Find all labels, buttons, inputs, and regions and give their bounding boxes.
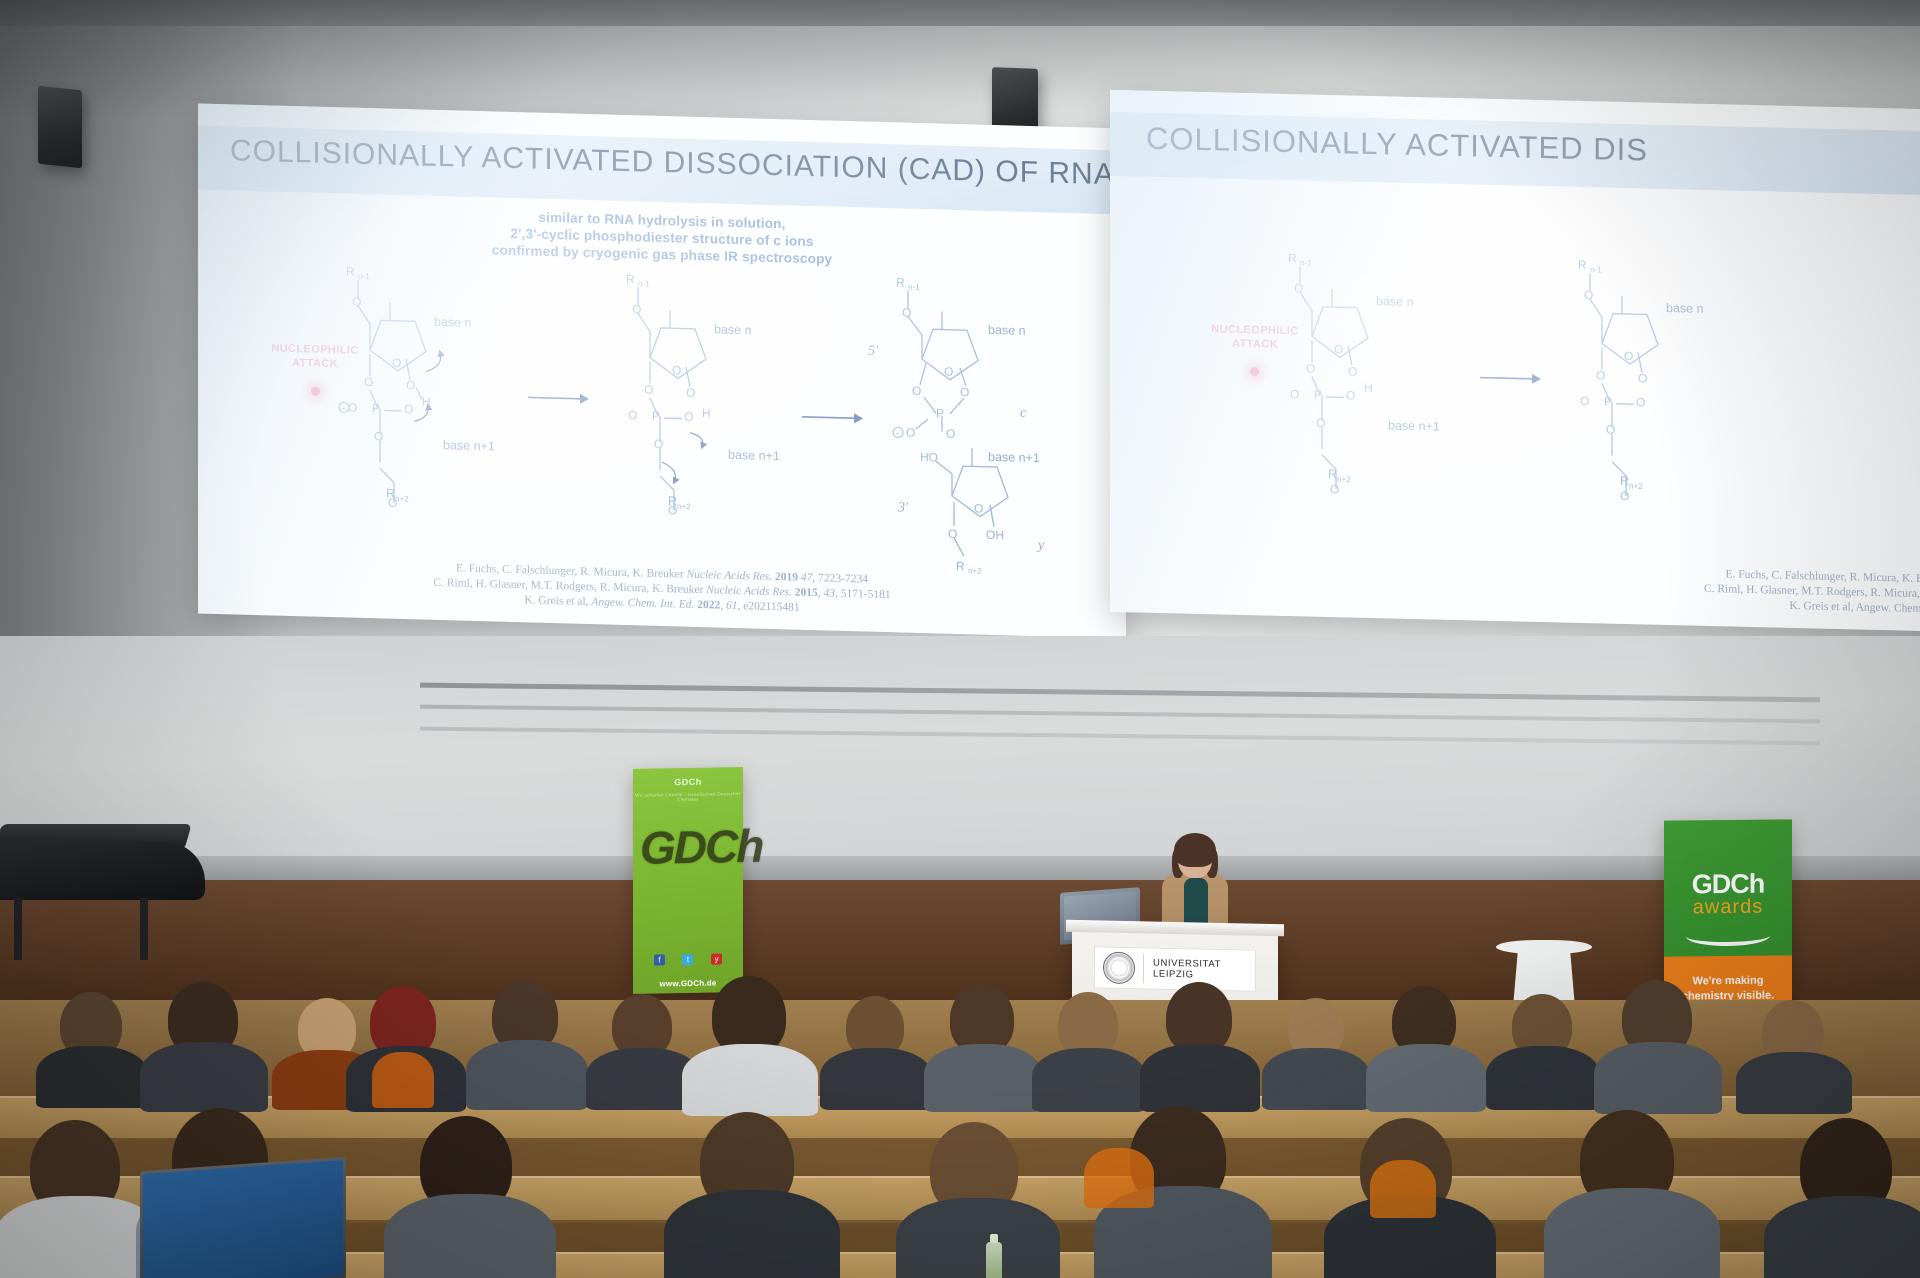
university-logo-plate: UNIVERSITAT LEIPZIG <box>1094 946 1256 991</box>
svg-text:P: P <box>1314 388 1322 402</box>
svg-text:R: R <box>956 559 965 573</box>
svg-text:OH: OH <box>986 528 1004 542</box>
nucleophilic-attack-annotation: NUCLEOPHILIC ATTACK <box>270 341 360 371</box>
piano-leg-right <box>140 898 148 960</box>
reaction-scheme-right: Rn-1 OO OO HP OO OO base n base n+1 NUCL… <box>1110 240 1920 560</box>
svg-text:n-1: n-1 <box>908 283 920 292</box>
university-name: UNIVERSITAT LEIPZIG <box>1153 958 1221 981</box>
svg-text:O: O <box>686 386 695 400</box>
svg-text:R: R <box>346 264 355 278</box>
reaction-arrow-2 <box>802 410 864 431</box>
presenter-hair <box>1174 833 1216 867</box>
audience-shoulders <box>384 1194 556 1278</box>
piano-leg-left <box>14 898 22 960</box>
svg-text:O: O <box>1624 349 1633 363</box>
piano-body <box>0 842 205 900</box>
nucleophile-dot <box>311 387 320 396</box>
svg-text:O: O <box>960 385 969 399</box>
awards-logo: GDCh awards <box>1664 871 1792 918</box>
gdch-banner-artwork: GDCh <box>640 819 736 941</box>
svg-text:O: O <box>404 402 413 416</box>
svg-text:H: H <box>422 395 431 409</box>
water-bottle <box>986 1242 1002 1278</box>
structure-y-fragment: HO O O OH Rn+2 <box>908 451 1098 586</box>
audience-shoulders <box>664 1190 840 1278</box>
awards-swoosh-icon <box>1686 926 1770 947</box>
audience-shoulders <box>372 1052 434 1108</box>
svg-text:O: O <box>902 305 911 319</box>
label-fragment-y: y <box>1038 538 1044 554</box>
audience-shoulders <box>1084 1148 1154 1208</box>
nucleophilic-line-1: NUCLEOPHILIC <box>270 341 360 357</box>
label-base-n-1: base n <box>434 315 472 330</box>
svg-text:O: O <box>1606 423 1615 437</box>
label-base-n-3: base n <box>988 323 1026 338</box>
table-top <box>1496 940 1592 954</box>
svg-text:O: O <box>1316 416 1325 430</box>
structure-c-fragment: Rn-1 O O O O P O O − <box>868 262 1058 447</box>
label-three-prime: 3' <box>898 500 908 516</box>
svg-text:O: O <box>1596 368 1605 382</box>
svg-text:O: O <box>906 426 915 440</box>
svg-text:R: R <box>896 275 905 289</box>
svg-text:O: O <box>1348 364 1357 378</box>
logo-divider <box>1143 953 1144 983</box>
university-line-2: LEIPZIG <box>1153 969 1221 981</box>
label-base-n1-3: base n+1 <box>988 450 1040 465</box>
svg-text:O: O <box>644 383 653 397</box>
svg-text:O: O <box>632 302 641 316</box>
svg-text:R: R <box>1578 258 1587 272</box>
svg-text:P: P <box>1604 395 1612 409</box>
awards-logo-gdch: GDCh <box>1664 871 1792 896</box>
svg-text:O: O <box>912 384 921 398</box>
label-Rn2-2: Rn+2 <box>668 494 691 511</box>
audience-laptop-screen <box>143 1160 343 1278</box>
svg-text:O: O <box>1346 388 1355 402</box>
reaction-arrow-1 <box>528 390 590 411</box>
svg-text:O: O <box>684 410 693 424</box>
audience-shoulders <box>1262 1048 1370 1110</box>
twitter-icon: t <box>682 954 693 965</box>
svg-text:O: O <box>1330 482 1339 496</box>
svg-text:O: O <box>628 408 637 422</box>
university-seal-icon <box>1103 951 1135 984</box>
svg-text:O: O <box>392 356 401 370</box>
gdch-roll-up-banner: GDCh Wir schaffen Chemie - Gesellschaft … <box>633 767 743 994</box>
svg-text:O: O <box>352 295 361 309</box>
svg-text:H: H <box>1364 381 1373 395</box>
svg-text:O: O <box>946 427 955 441</box>
audience-shoulders <box>1594 1042 1722 1114</box>
label-five-prime: 5' <box>868 344 878 360</box>
label-base-n-right: base n <box>1376 294 1414 309</box>
youtube-icon: y <box>711 953 722 964</box>
audience-shoulders <box>1736 1052 1852 1114</box>
structure-reactant-right: Rn-1 OO OO HP OO OO <box>1260 243 1450 497</box>
nucleophile-dot-right <box>1250 367 1259 376</box>
facebook-icon: f <box>654 954 665 965</box>
svg-text:n-1: n-1 <box>1590 265 1602 274</box>
label-Rn2-1: Rn+2 <box>386 487 409 504</box>
audience-area <box>0 1000 1920 1278</box>
label-base-n1-right: base n+1 <box>1388 418 1440 433</box>
audience-shoulders <box>1370 1160 1436 1218</box>
svg-text:−: − <box>895 429 900 438</box>
lecture-hall-scene: COLLISIONALLY ACTIVATED DISSOCIATION (CA… <box>0 0 1920 1278</box>
audience-shoulders <box>682 1044 818 1116</box>
svg-text:O: O <box>374 429 383 443</box>
svg-text:n+2: n+2 <box>968 566 982 575</box>
slide-citations-right: E. Fuchs, C. Falschlunger, R. Micura, K.… <box>1110 553 1920 618</box>
svg-text:P: P <box>372 401 380 415</box>
structure-intermediate-right: Rn-1 OO OO PO OO O <box>1550 250 1740 504</box>
svg-text:P: P <box>936 406 944 420</box>
awards-logo-awards: awards <box>1664 895 1792 918</box>
structure-reactant: Rn-1 O O O O H P O O O O − <box>318 257 508 512</box>
audience-shoulders <box>36 1046 148 1108</box>
reaction-arrow-right <box>1480 371 1542 391</box>
label-fragment-c: c <box>1020 406 1026 422</box>
audience-shoulders <box>1366 1044 1486 1112</box>
gdch-banner-logo: GDCh <box>633 776 743 788</box>
svg-text:O: O <box>1638 371 1647 385</box>
audience-shoulders <box>896 1198 1060 1278</box>
audience-shoulders <box>140 1042 268 1112</box>
svg-text:O: O <box>1636 395 1645 409</box>
svg-text:H: H <box>702 406 711 420</box>
svg-text:O: O <box>672 363 681 377</box>
label-Rn2-right-2: Rn+2 <box>1620 474 1643 491</box>
svg-text:O: O <box>1580 394 1589 408</box>
label-base-n-right-2: base n <box>1666 301 1704 316</box>
svg-text:O: O <box>654 437 663 451</box>
nucleophilic-attack-right: NUCLEOPHILIC ATTACK <box>1210 322 1300 352</box>
projection-screen-left: COLLISIONALLY ACTIVATED DISSOCIATION (CA… <box>198 103 1126 638</box>
svg-text:R: R <box>1288 251 1297 265</box>
gdch-banner-tagline: Wir schaffen Chemie - Gesellschaft Deuts… <box>633 791 743 803</box>
projection-screen-right: COLLISIONALLY ACTIVATED DIS Rn-1 OO <box>1110 90 1920 632</box>
svg-text:−: − <box>341 404 346 413</box>
svg-text:O: O <box>364 375 373 389</box>
label-base-n-2: base n <box>714 322 752 337</box>
audience-shoulders <box>1140 1044 1260 1112</box>
gdch-social-icons: f t y <box>633 953 743 966</box>
wall-speaker-left <box>38 86 82 169</box>
svg-text:O: O <box>1306 361 1315 375</box>
nuc-line2-right: ATTACK <box>1210 336 1300 352</box>
svg-text:O: O <box>406 378 415 392</box>
audience-shoulders <box>820 1048 932 1110</box>
svg-text:O: O <box>974 501 983 515</box>
audience-shoulders <box>1544 1188 1720 1278</box>
svg-text:n-1: n-1 <box>358 272 370 281</box>
structure-intermediate: Rn-1 O O O O H P O O O O <box>598 264 788 519</box>
svg-text:O: O <box>1294 281 1303 295</box>
svg-text:n-1: n-1 <box>638 279 650 288</box>
svg-text:R: R <box>626 272 635 286</box>
audience-shoulders <box>1486 1046 1600 1110</box>
nuc-line1-right: NUCLEOPHILIC <box>1210 322 1300 338</box>
label-base-n1-1: base n+1 <box>443 438 495 453</box>
svg-text:O: O <box>1620 489 1629 503</box>
label-base-n1-2: base n+1 <box>728 448 780 463</box>
label-Rn2-right: Rn+2 <box>1328 467 1351 484</box>
svg-text:O: O <box>1334 342 1343 356</box>
svg-text:O: O <box>944 365 953 379</box>
audience-shoulders <box>924 1044 1042 1112</box>
svg-text:O: O <box>1584 288 1593 302</box>
reaction-scheme: Rn-1 O O O O H P O O O O − <box>198 253 1126 578</box>
nucleophilic-line-2: ATTACK <box>270 355 360 371</box>
svg-text:P: P <box>652 409 660 423</box>
svg-text:O: O <box>948 527 957 541</box>
audience-laptop <box>140 1157 346 1278</box>
svg-text:HO: HO <box>920 450 938 464</box>
audience-shoulders <box>1032 1048 1146 1112</box>
audience-shoulders <box>466 1040 588 1110</box>
svg-text:O: O <box>1290 387 1299 401</box>
grand-piano <box>0 842 220 962</box>
audience-shoulders <box>1764 1196 1920 1278</box>
svg-text:n-1: n-1 <box>1300 258 1312 267</box>
